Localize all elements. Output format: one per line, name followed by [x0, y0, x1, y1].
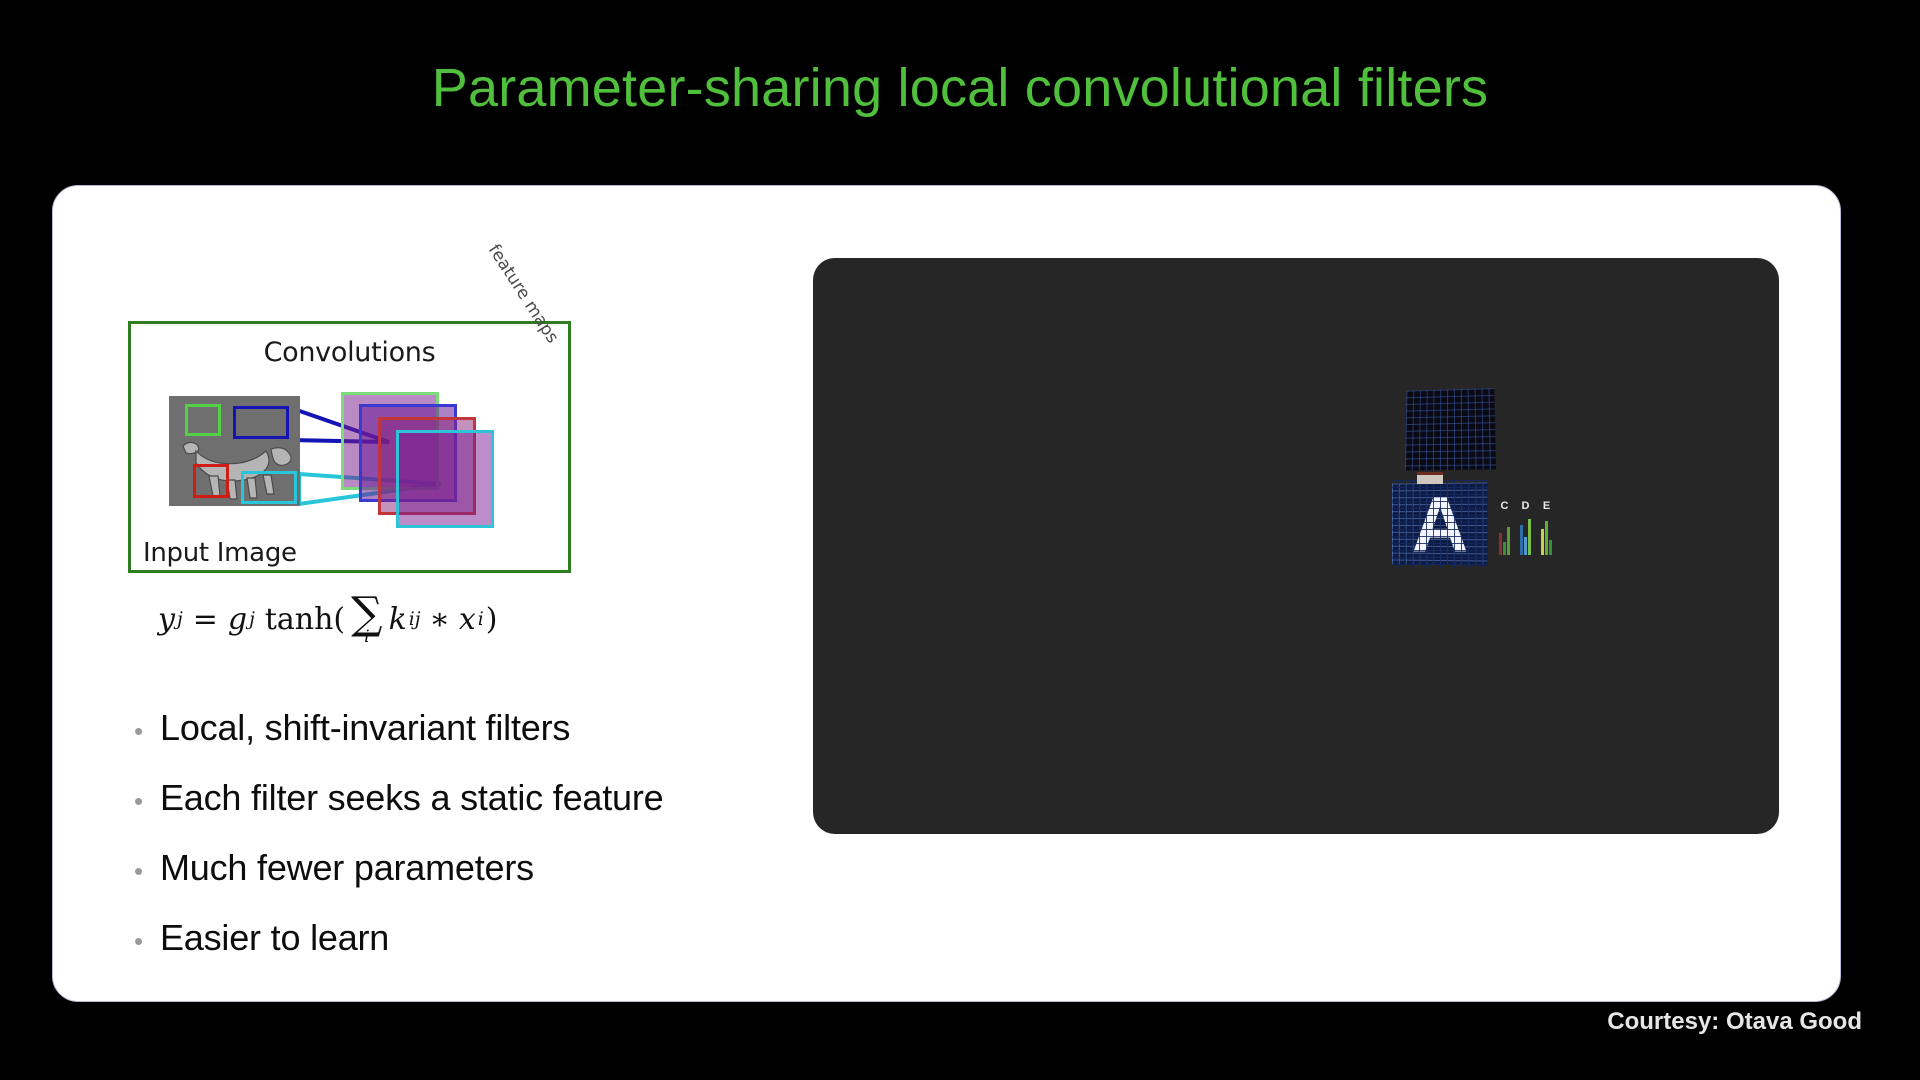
formula-summation: ∑ i [351, 595, 382, 645]
formula-activation: tanh( [265, 602, 345, 637]
formula-sigma-sub: i [364, 630, 369, 644]
formula-gain-sub: j [249, 609, 255, 630]
led-letter-display: A [1391, 480, 1487, 568]
left-column: Convolutions feature maps [128, 321, 888, 987]
bullet-text: Easier to learn [160, 917, 389, 959]
formula-lhs-sub: j [177, 609, 183, 630]
bullet-text: Local, shift-invariant filters [160, 707, 570, 749]
legend-bars-c [1499, 515, 1510, 555]
list-item: • Local, shift-invariant filters [134, 707, 888, 749]
roi-red-box [193, 464, 229, 498]
formula-kernel-sub: ij [409, 609, 421, 630]
figure-bottom-caption: Input Image [143, 538, 297, 568]
legend-label-e: E [1543, 501, 1550, 512]
formula-lhs-var: y [158, 602, 175, 637]
formula-equation: yj = gj tanh( ∑ i kij ∗ xi ) [158, 595, 888, 645]
slide-root: Parameter-sharing local convolutional fi… [0, 0, 1920, 1080]
led-grid-panel-top [1405, 388, 1496, 470]
feature-map-4 [396, 430, 494, 528]
legend-bars-d [1520, 515, 1531, 555]
roi-cyan-box [241, 471, 297, 504]
content-card: Convolutions feature maps [52, 185, 1841, 1002]
video-player-panel[interactable]: A C D [813, 258, 1779, 834]
legend-bars-e [1541, 515, 1552, 555]
page-title: Parameter-sharing local convolutional fi… [0, 58, 1920, 118]
formula-close-paren: ) [486, 602, 498, 637]
formula-input-var: x [459, 602, 476, 637]
legend-label-c: C [1501, 501, 1509, 512]
legend-column-d: D [1520, 501, 1531, 555]
courtesy-credit: Courtesy: Otava Good [1607, 1008, 1862, 1036]
bullet-marker-icon: • [134, 928, 160, 954]
roi-green-box [185, 404, 221, 436]
bullet-marker-icon: • [134, 858, 160, 884]
video-stage: A C D [813, 258, 1779, 834]
legend-column-e: E [1541, 501, 1552, 555]
bullet-text: Each filter seeks a static feature [160, 777, 663, 819]
activation-legend: C D [1499, 501, 1552, 555]
bullet-list: • Local, shift-invariant filters • Each … [134, 707, 888, 959]
legend-label-d: D [1522, 501, 1530, 512]
roi-blue-box [233, 406, 289, 439]
formula-operator: ∗ [429, 602, 449, 637]
legend-column-c: C [1499, 501, 1510, 555]
bullet-marker-icon: • [134, 718, 160, 744]
convolutions-figure: Convolutions feature maps [128, 321, 571, 573]
formula-input-sub: i [478, 609, 484, 630]
formula-gain-var: g [228, 602, 247, 637]
list-item: • Each filter seeks a static feature [134, 777, 888, 819]
formula-kernel-var: k [389, 602, 407, 637]
list-item: • Easier to learn [134, 917, 888, 959]
list-item: • Much fewer parameters [134, 847, 888, 889]
formula-equals: = [193, 602, 218, 637]
bullet-text: Much fewer parameters [160, 847, 534, 889]
bullet-marker-icon: • [134, 788, 160, 814]
camera-module-icon [1417, 472, 1443, 484]
